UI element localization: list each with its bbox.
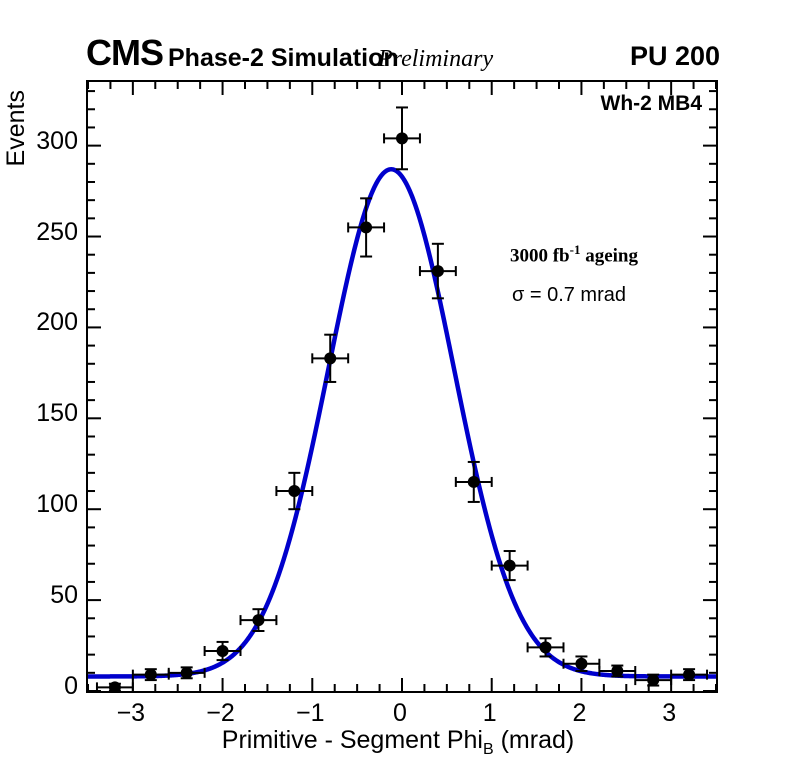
y-tick-label: 100 (8, 490, 78, 519)
chamber-label: Wh-2 MB4 (601, 92, 703, 116)
plot-canvas: CMS Phase-2 Simulation Preliminary PU 20… (0, 0, 796, 772)
simulation-label: Phase-2 Simulation (168, 43, 399, 73)
x-axis-label: Primitive - Segment PhiB (mrad) (0, 726, 796, 759)
resolution-label: σ = 0.7 mrad (512, 284, 626, 307)
x-tick-label: 3 (639, 699, 699, 728)
x-axis-label-base: Primitive - Segment Phi (222, 726, 483, 754)
pileup-label: PU 200 (630, 40, 720, 72)
plot-frame: Wh-2 MB4 3000 fb-1 ageing σ = 0.7 mrad (86, 80, 718, 693)
x-axis-label-subscript: B (483, 741, 494, 758)
x-axis-label-unit: (mrad) (494, 726, 575, 754)
data-plot-area (88, 82, 716, 691)
plot-header: CMS Phase-2 Simulation Preliminary PU 20… (0, 38, 796, 72)
x-tick-label: −3 (101, 699, 161, 728)
cms-logo-text: CMS (86, 36, 163, 70)
y-tick-label: 0 (8, 672, 78, 701)
y-tick-label: 150 (8, 399, 78, 428)
y-tick-label: 200 (8, 308, 78, 337)
y-tick-label: 50 (8, 581, 78, 610)
x-tick-label: 1 (460, 699, 520, 728)
x-tick-label: 2 (549, 699, 609, 728)
y-tick-label: 250 (8, 218, 78, 247)
x-tick-label: −2 (191, 699, 251, 728)
x-tick-label: −1 (280, 699, 340, 728)
y-tick-label: 300 (8, 127, 78, 156)
ageing-label: 3000 fb-1 ageing (510, 242, 638, 267)
x-tick-label: 0 (370, 699, 430, 728)
preliminary-label: Preliminary (378, 44, 493, 74)
